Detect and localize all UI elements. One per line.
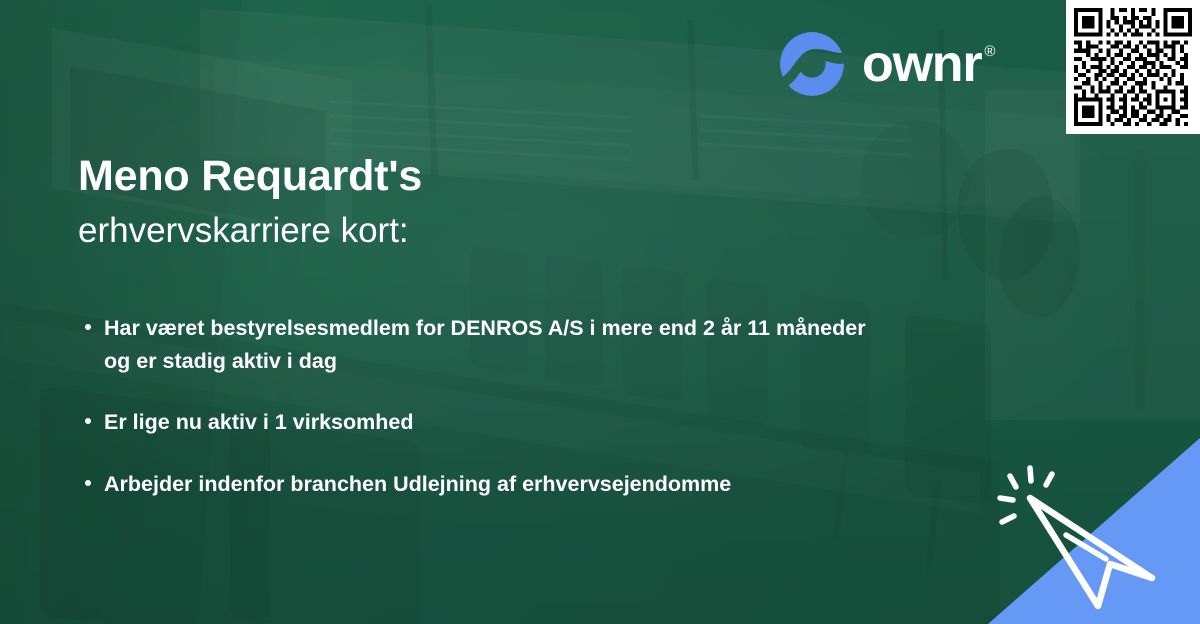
ownr-career-card: ownr ® bbox=[0, 0, 1200, 624]
blue-corner-decoration bbox=[938, 438, 1200, 624]
list-item-text: Har været bestyrelsesmedlem for DENROS A… bbox=[104, 316, 866, 373]
bullet-dot-icon bbox=[85, 480, 91, 486]
list-item-text: Arbejder indenfor branchen Udlejning af … bbox=[104, 472, 731, 496]
page-title: Meno Requardt's bbox=[78, 152, 878, 201]
qr-code-panel[interactable] bbox=[1066, 0, 1200, 134]
ownr-logo: ownr ® bbox=[778, 30, 995, 98]
headline-block: Meno Requardt's erhvervskarriere kort: bbox=[78, 152, 878, 252]
list-item: Har været bestyrelsesmedlem for DENROS A… bbox=[82, 312, 874, 377]
registered-trademark-icon: ® bbox=[984, 44, 995, 59]
bullet-dot-icon bbox=[85, 418, 91, 424]
qr-code[interactable] bbox=[1074, 8, 1192, 126]
bullet-dot-icon bbox=[85, 324, 91, 330]
corner-triangle bbox=[938, 438, 1200, 624]
list-item-text: Er lige nu aktiv i 1 virksomhed bbox=[104, 410, 413, 434]
wordmark-text: ownr bbox=[862, 38, 981, 90]
page-subtitle: erhvervskarriere kort: bbox=[78, 210, 878, 252]
ownr-circle-swirl-logo bbox=[778, 30, 846, 98]
career-facts-list: Har været bestyrelsesmedlem for DENROS A… bbox=[82, 312, 1082, 501]
ownr-wordmark: ownr ® bbox=[862, 38, 995, 90]
list-item: Er lige nu aktiv i 1 virksomhed bbox=[82, 406, 874, 439]
list-item: Arbejder indenfor branchen Udlejning af … bbox=[82, 468, 874, 501]
